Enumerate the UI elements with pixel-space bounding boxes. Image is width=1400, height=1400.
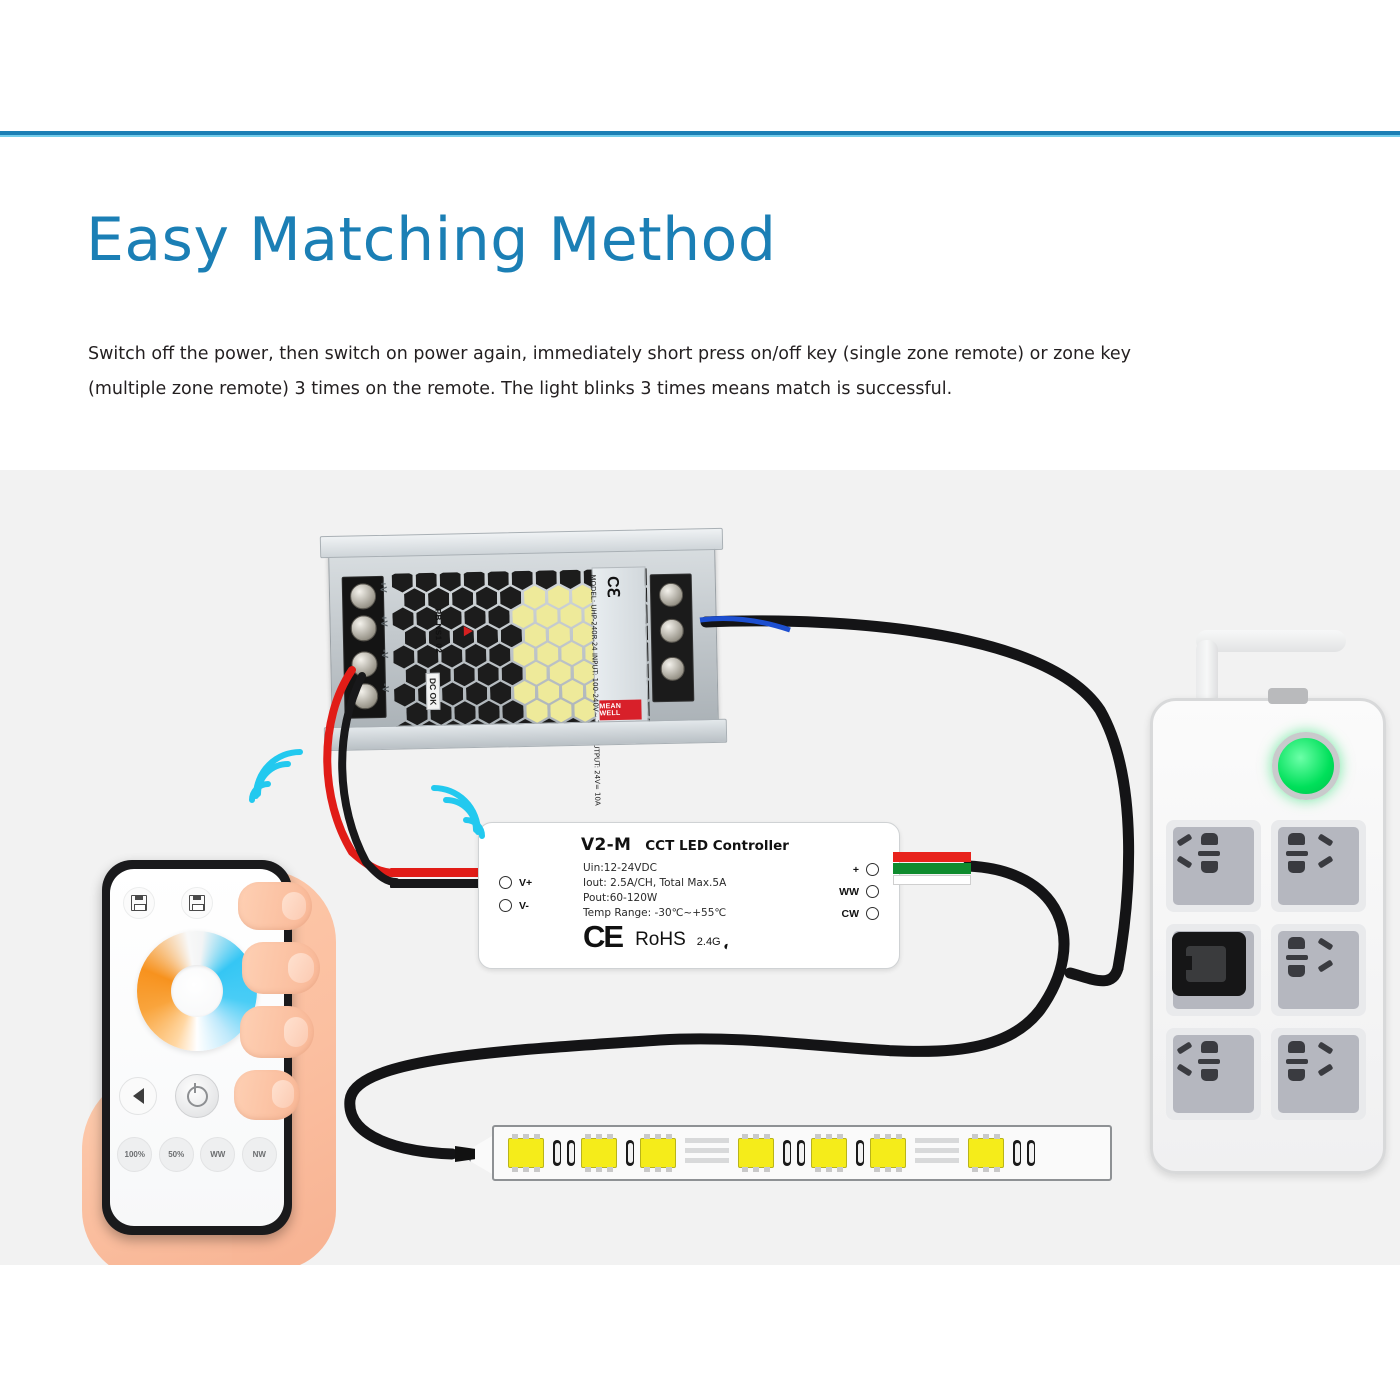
pin-ring-icon <box>499 899 512 912</box>
index-finger <box>238 882 312 930</box>
controller-output-wire-plus <box>893 852 971 862</box>
ring-finger <box>240 1006 314 1058</box>
controller-output-wire-ww <box>893 863 971 874</box>
socket-face-icon <box>1278 931 1359 1009</box>
save-icon <box>189 895 205 911</box>
controller-input-wire-positive <box>390 868 482 877</box>
led-resistor <box>626 1140 634 1166</box>
pin-label: V+ <box>519 877 532 889</box>
led-controller: V2-M CCT LED Controller Uin:12-24VDC Iou… <box>478 822 900 969</box>
middle-finger <box>242 942 320 994</box>
fingernail <box>288 953 314 983</box>
socket-face-icon <box>1278 1035 1359 1113</box>
power-socket-6[interactable] <box>1271 1028 1366 1120</box>
led-resistor <box>856 1140 864 1166</box>
psu-chassis: +V +V -V -V PB NS1 02 DC OK Cℇ MODEL: UH… <box>328 542 719 737</box>
controller-model: V2-M <box>581 835 631 855</box>
power-socket-4[interactable] <box>1271 924 1366 1016</box>
remote-preset-50[interactable]: 50% <box>159 1137 194 1172</box>
controller-pin-cw: CW <box>842 907 880 920</box>
power-strip-hanger-clip <box>1268 688 1308 704</box>
pin-label: + <box>853 864 859 876</box>
plug-body <box>1186 946 1226 982</box>
led-chip <box>870 1138 906 1168</box>
controller-certifications: CE RoHS 2.4G ◖ <box>583 921 729 952</box>
fingernail <box>272 1080 294 1108</box>
cct-color-ring[interactable] <box>137 931 257 1051</box>
power-strip-cable <box>1196 640 1218 706</box>
terminal-screw <box>660 619 684 643</box>
controller-pin-vminus: V- <box>499 899 529 912</box>
led-chip <box>738 1138 774 1168</box>
ce-mark-icon: CE <box>583 921 622 952</box>
controller-title: V2-M CCT LED Controller <box>581 835 789 855</box>
psu-dc-ok-label: DC OK <box>426 673 441 711</box>
rohs-label: RoHS <box>635 927 686 952</box>
ac-plug <box>1172 932 1246 996</box>
controller-spec-iout: Iout: 2.5A/CH, Total Max.5A <box>583 876 726 891</box>
socket-face-icon <box>1173 1035 1254 1113</box>
power-strip-indicator-led <box>1272 732 1340 800</box>
little-finger <box>234 1070 300 1120</box>
led-resistor <box>553 1140 561 1166</box>
psu-vent-text: PB NS1 02 <box>433 609 443 654</box>
led-strip <box>492 1125 1112 1181</box>
pin-ring-icon <box>499 876 512 889</box>
psu-spec-label: Cℇ MODEL: UHP-240R-24 INPUT: 100-240V~ 2… <box>592 566 650 737</box>
led-resistor <box>1027 1140 1035 1166</box>
page-title: Easy Matching Method <box>86 205 776 275</box>
controller-kind: CCT LED Controller <box>645 838 789 854</box>
pin-ring-icon <box>866 907 879 920</box>
led-strip-lead-connector <box>455 1146 475 1162</box>
fingernail <box>282 892 306 920</box>
remote-preset-row: 100% 50% WW NW <box>114 1137 280 1172</box>
controller-pin-plus: + <box>853 863 879 876</box>
radio-band-label: 2.4G <box>697 932 721 952</box>
remote-preset-ww[interactable]: WW <box>200 1137 235 1172</box>
pin-label: V- <box>519 900 529 912</box>
controller-wifi-signal-icon <box>430 780 492 840</box>
pin-label: CW <box>842 908 860 920</box>
controller-specs: Uin:12-24VDC Iout: 2.5A/CH, Total Max.5A… <box>583 861 726 921</box>
fingernail <box>284 1017 308 1047</box>
header-divider-soft <box>0 135 1400 137</box>
cct-ring-center <box>171 965 223 1017</box>
psu-ce-mark: Cℇ <box>603 576 623 598</box>
wifi-small-icon: ◖ <box>720 938 730 952</box>
led-resistor <box>797 1140 805 1166</box>
psu-ac-terminal-block <box>650 573 695 702</box>
psu-label-text: MODEL: UHP-240R-24 INPUT: 100-240V~ 2.6A… <box>588 574 600 730</box>
red-arrow-icon <box>464 626 473 636</box>
controller-pin-vplus: V+ <box>499 876 532 889</box>
controller-spec-uin: Uin:12-24VDC <box>583 861 726 876</box>
remote-preset-nw[interactable]: NW <box>242 1137 277 1172</box>
led-cut-pads <box>915 1138 959 1168</box>
led-chip <box>640 1138 676 1168</box>
left-arrow-icon <box>133 1088 144 1104</box>
controller-spec-pout: Pout:60-120W <box>583 891 726 906</box>
power-strip-cable-horizontal <box>1196 630 1346 652</box>
psu-terminal-labels: +V +V -V -V <box>378 570 392 706</box>
remote-power-button[interactable] <box>175 1074 219 1118</box>
power-icon <box>187 1086 208 1107</box>
socket-face-icon <box>1173 827 1254 905</box>
led-strip-lead-tip <box>455 1132 497 1174</box>
save-icon <box>131 895 147 911</box>
power-socket-2[interactable] <box>1271 820 1366 912</box>
socket-face-icon <box>1278 827 1359 905</box>
hand-holding-remote: 100% 50% WW NW <box>30 770 330 1265</box>
led-resistor <box>783 1140 791 1166</box>
led-chip <box>581 1138 617 1168</box>
remote-save-button-1[interactable] <box>123 887 155 919</box>
pin-ring-icon <box>866 885 879 898</box>
led-resistor <box>1013 1140 1021 1166</box>
led-chip <box>811 1138 847 1168</box>
power-socket-1[interactable] <box>1166 820 1261 912</box>
controller-input-wire-negative <box>390 879 482 888</box>
remote-left-button[interactable] <box>119 1077 157 1115</box>
led-cut-pads <box>685 1138 729 1168</box>
led-resistor <box>567 1140 575 1166</box>
led-chip <box>968 1138 1004 1168</box>
wiring-diagram-panel: +V +V -V -V PB NS1 02 DC OK Cℇ MODEL: UH… <box>0 470 1400 1265</box>
pin-ring-icon <box>866 863 879 876</box>
power-supply-unit: +V +V -V -V PB NS1 02 DC OK Cℇ MODEL: UH… <box>328 528 717 751</box>
controller-output-wire-cw <box>893 875 971 885</box>
pin-label: WW <box>839 886 859 898</box>
remote-preset-100[interactable]: 100% <box>117 1137 152 1172</box>
psu-brand-logo: MEAN WELL <box>599 700 641 721</box>
instruction-text: Switch off the power, then switch on pow… <box>88 337 1203 407</box>
remote-save-button-2[interactable] <box>181 887 213 919</box>
led-chip <box>508 1138 544 1168</box>
power-socket-5[interactable] <box>1166 1028 1261 1120</box>
controller-pin-ww: WW <box>839 885 879 898</box>
terminal-screw <box>659 583 683 607</box>
page-root: Easy Matching Method Switch off the powe… <box>0 0 1400 1400</box>
terminal-screw <box>660 657 684 681</box>
